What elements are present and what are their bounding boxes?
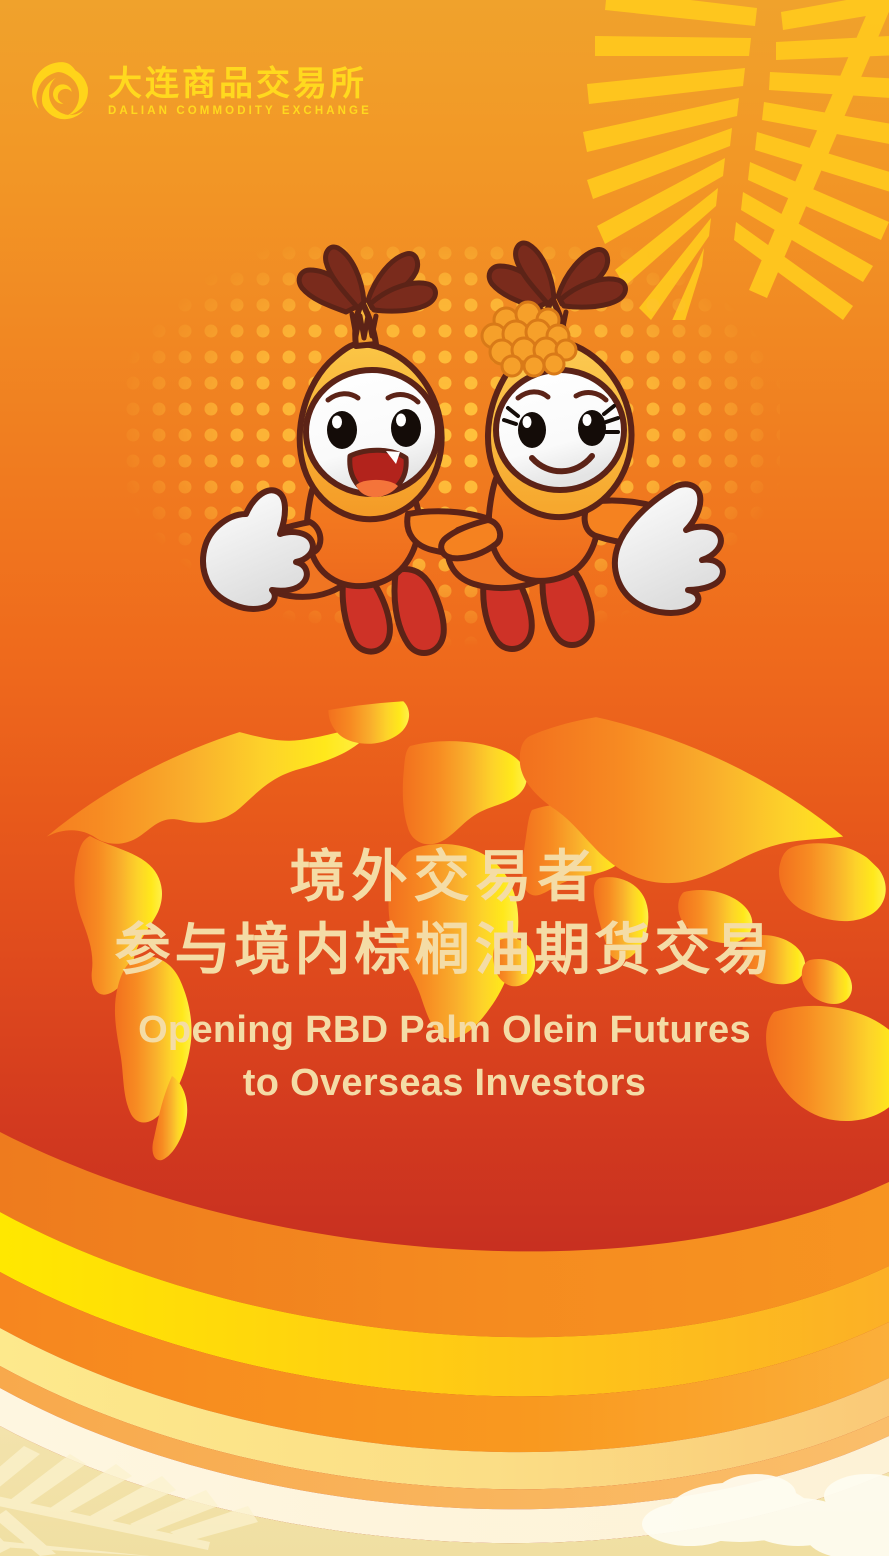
headline-chinese-line-1: 境外交易者	[0, 845, 889, 911]
logo-chinese-name: 大连商品交易所	[108, 67, 372, 101]
poster-root: 大连商品交易所 DALIAN COMMODITY EXCHANGE	[0, 0, 889, 1556]
mascot-pair	[150, 240, 750, 690]
logo[interactable]: 大连商品交易所 DALIAN COMMODITY EXCHANGE	[28, 58, 372, 126]
swirl-vortex-icon	[28, 58, 96, 126]
logo-english-name: DALIAN COMMODITY EXCHANGE	[108, 106, 372, 118]
mascot-right	[441, 243, 723, 649]
headline-chinese-line-2: 参与境内棕榈油期货交易	[0, 917, 889, 985]
mascot-left	[203, 247, 514, 653]
curved-wave-bands	[0, 1036, 889, 1556]
logo-text: 大连商品交易所 DALIAN COMMODITY EXCHANGE	[108, 67, 372, 118]
